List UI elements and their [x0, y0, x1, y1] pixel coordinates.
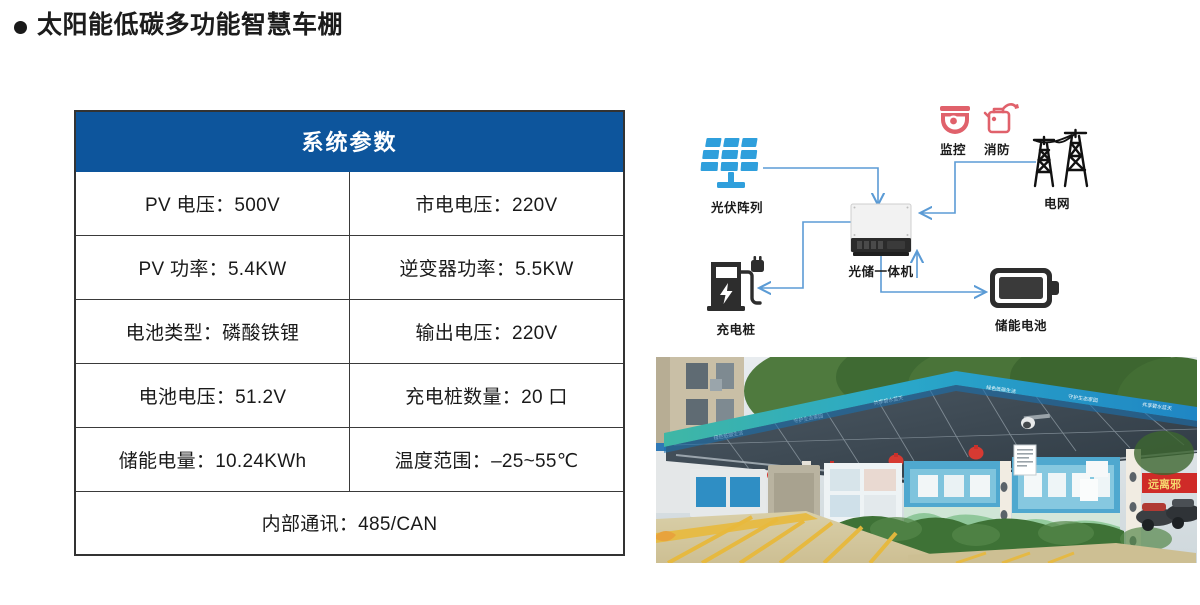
label-power-grid: 电网	[1035, 193, 1079, 212]
diagram-canvas	[655, 100, 1200, 350]
param-pv-voltage: PV 电压：500V	[75, 171, 350, 235]
label-monitoring: 监控	[933, 139, 973, 158]
system-flow-diagram: 光伏阵列 监控 消防 电网 光储一体机 充电桩 储能电池	[655, 100, 1200, 350]
table-header-title: 系统参数	[75, 111, 624, 171]
table-row: 电池电压：51.2V 充电桩数量：20 口	[75, 363, 624, 427]
table-header-row: 系统参数	[75, 111, 624, 171]
param-battery-voltage: 电池电压：51.2V	[75, 363, 350, 427]
flow-inverter-to-charger	[760, 222, 851, 288]
table-row: 储能电量：10.24KWh 温度范围：–25~55℃	[75, 427, 624, 491]
label-pv-array: 光伏阵列	[702, 197, 772, 216]
param-storage-energy: 储能电量：10.24KWh	[75, 427, 350, 491]
table-row: 内部通讯：485/CAN	[75, 491, 624, 555]
flow-grid-to-inverter	[921, 162, 1036, 213]
slide-page: 太阳能低碳多功能智慧车棚 系统参数 PV 电压：500V 市电电压：220V P…	[0, 0, 1200, 605]
label-battery: 储能电池	[990, 315, 1052, 334]
system-parameters-table: 系统参数 PV 电压：500V 市电电压：220V PV 功率：5.4KW 逆变…	[74, 110, 625, 556]
table-row: 电池类型：磷酸铁锂 输出电压：220V	[75, 299, 624, 363]
param-battery-type: 电池类型：磷酸铁锂	[75, 299, 350, 363]
cctv-camera-icon	[940, 106, 970, 134]
fire-extinguisher-icon	[985, 104, 1019, 132]
carport-photo: 绿色低碳生活 守护生态家园 共享碧水蓝天 绿色低碳生活 守护生态家园 共享碧水蓝…	[656, 357, 1197, 563]
label-charge-pile: 充电桩	[705, 319, 767, 338]
hybrid-inverter-icon	[851, 204, 911, 256]
svg-text:远离邪: 远离邪	[1148, 477, 1181, 491]
carport-photo-image: 绿色低碳生活 守护生态家园 共享碧水蓝天 绿色低碳生活 守护生态家园 共享碧水蓝…	[656, 357, 1197, 563]
param-temp-range: 温度范围：–25~55℃	[350, 427, 625, 491]
page-title: 太阳能低碳多功能智慧车棚	[14, 12, 343, 40]
flow-pv-to-inverter	[763, 168, 878, 204]
table-row: PV 电压：500V 市电电压：220V	[75, 171, 624, 235]
ev-charger-icon	[707, 256, 764, 311]
solar-panel-icon	[701, 138, 759, 188]
param-charger-count: 充电桩数量：20 口	[350, 363, 625, 427]
param-inverter-power: 逆变器功率：5.5KW	[350, 235, 625, 299]
label-inverter: 光储一体机	[841, 261, 921, 280]
label-firefight: 消防	[977, 139, 1017, 158]
param-output-voltage: 输出电压：220V	[350, 299, 625, 363]
param-grid-voltage: 市电电压：220V	[350, 171, 625, 235]
param-pv-power: PV 功率：5.4KW	[75, 235, 350, 299]
battery-icon	[990, 268, 1059, 308]
table-row: PV 功率：5.4KW 逆变器功率：5.5KW	[75, 235, 624, 299]
bullet-icon	[14, 21, 27, 34]
param-internal-comm: 内部通讯：485/CAN	[75, 491, 624, 555]
page-title-text: 太阳能低碳多功能智慧车棚	[37, 12, 343, 40]
transmission-tower-icon	[1034, 130, 1087, 186]
